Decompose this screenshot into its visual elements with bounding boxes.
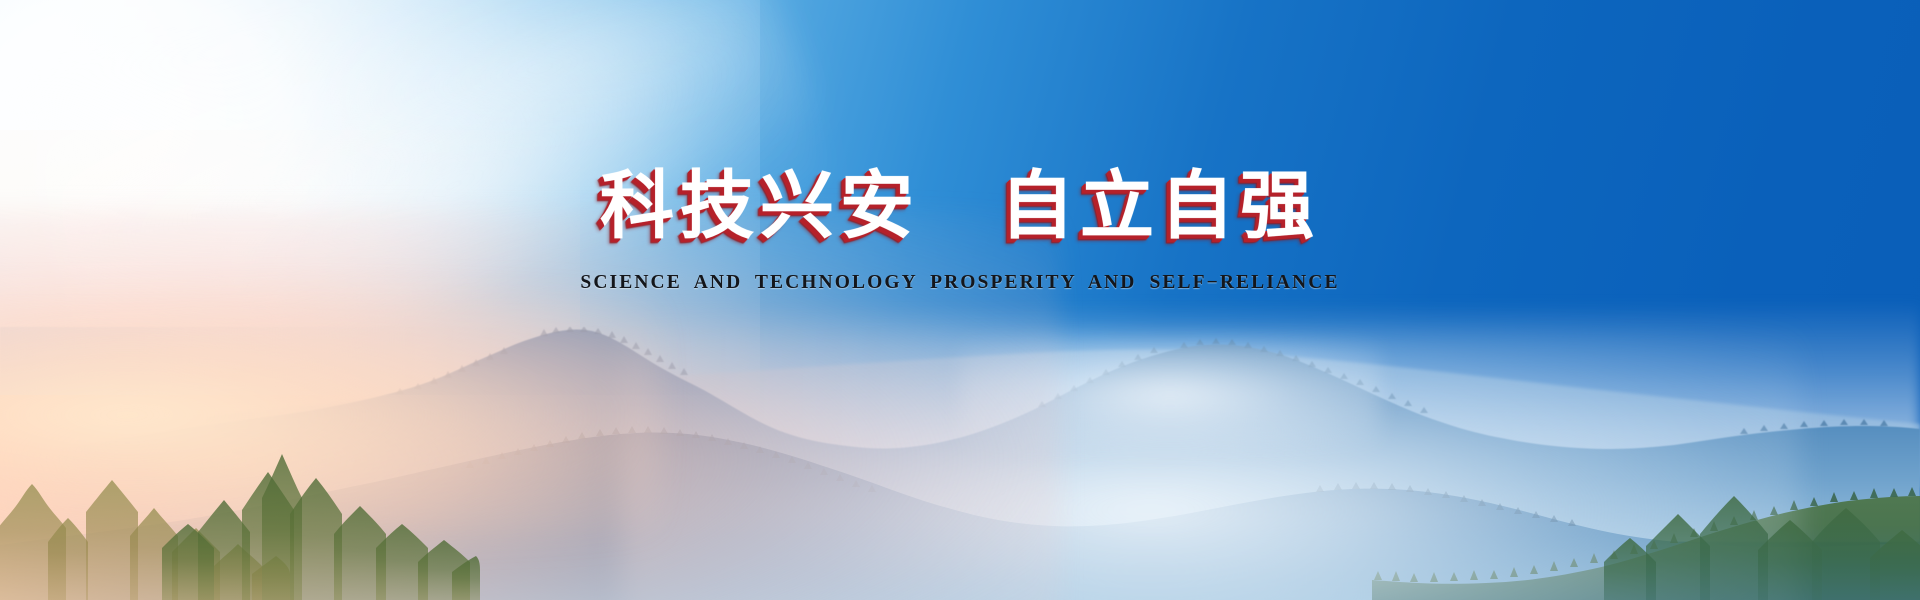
tree-cluster-mid: [150, 406, 480, 600]
page-title: 科技兴安 自立自强: [0, 168, 1920, 246]
tree-cluster-right: [1600, 446, 1920, 600]
mountain-landscape: [0, 280, 1920, 600]
banner-text-block: 科技兴安 自立自强 SCIENCE AND TECHNOLOGY PROSPER…: [0, 168, 1920, 294]
page-subtitle: SCIENCE AND TECHNOLOGY PROSPERITY AND SE…: [0, 272, 1920, 294]
banner-hero: 科技兴安 自立自强 SCIENCE AND TECHNOLOGY PROSPER…: [0, 0, 1920, 600]
